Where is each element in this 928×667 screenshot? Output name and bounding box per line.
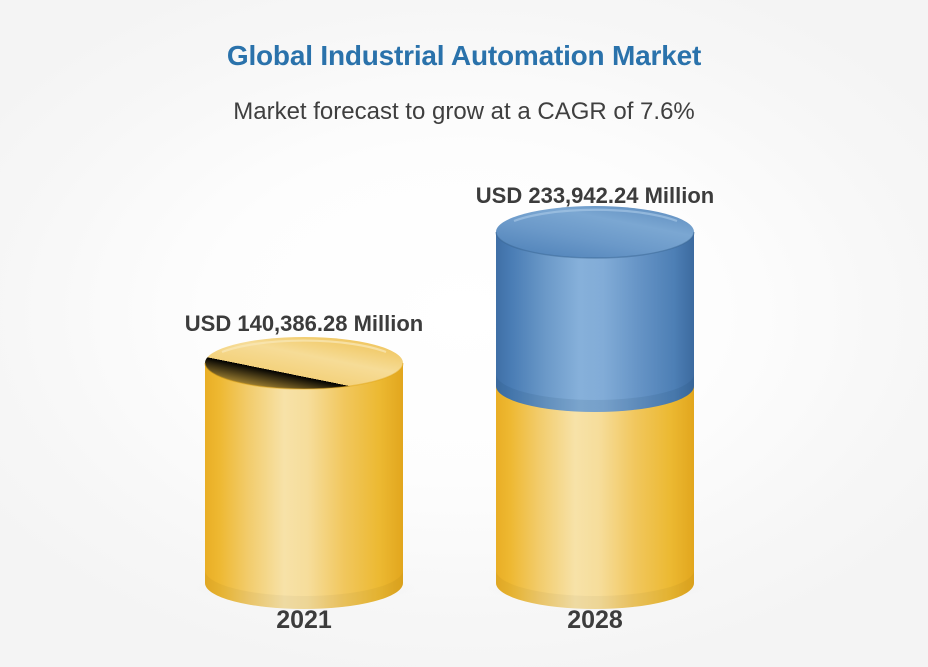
category-label-2028: 2028 <box>495 606 695 635</box>
chart-title: Global Industrial Automation Market <box>0 40 928 72</box>
value-label-2021: USD 140,386.28 Million <box>104 311 504 337</box>
cylinder-bar-2021 <box>205 337 403 609</box>
chart-subtitle: Market forecast to grow at a CAGR of 7.6… <box>0 98 928 126</box>
cylinder-bar-2028 <box>496 206 694 609</box>
chart-container: Global Industrial Automation Market Mark… <box>0 0 928 667</box>
value-label-2028: USD 233,942.24 Million <box>395 183 795 209</box>
category-label-2021: 2021 <box>204 606 404 635</box>
